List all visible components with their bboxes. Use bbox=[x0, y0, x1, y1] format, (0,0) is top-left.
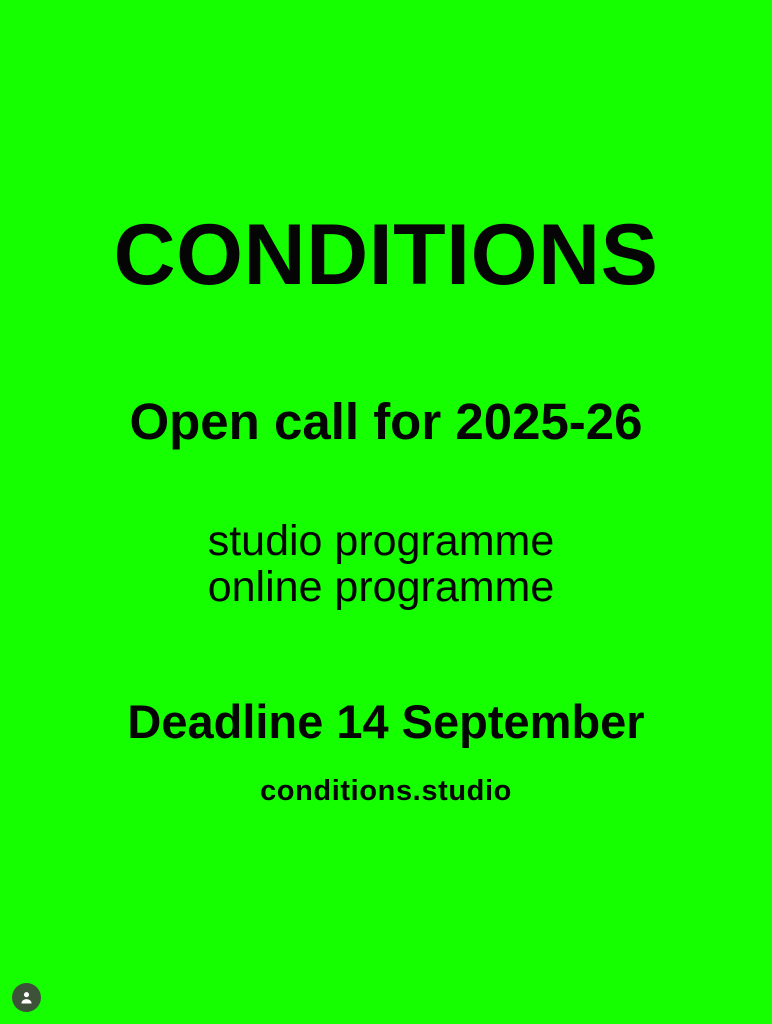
subhead-text: Open call for 2025-26 bbox=[0, 392, 772, 452]
poster-canvas: CONDITIONS Open call for 2025-26 studio … bbox=[0, 0, 772, 1024]
programme-list: studio programme online programme bbox=[0, 518, 772, 610]
person-icon bbox=[18, 989, 35, 1006]
deadline-text: Deadline 14 September bbox=[0, 694, 772, 750]
website-url[interactable]: conditions.studio bbox=[0, 772, 772, 810]
programme-item-online: online programme bbox=[0, 564, 772, 610]
subhead: Open call for 2025-26 bbox=[0, 392, 772, 452]
programme-item-studio: studio programme bbox=[0, 518, 772, 564]
account-button[interactable] bbox=[12, 983, 41, 1012]
deadline: Deadline 14 September bbox=[0, 694, 772, 750]
page-title: CONDITIONS bbox=[0, 205, 772, 305]
headline-text: CONDITIONS bbox=[0, 205, 772, 305]
website-url-text: conditions.studio bbox=[0, 772, 772, 810]
